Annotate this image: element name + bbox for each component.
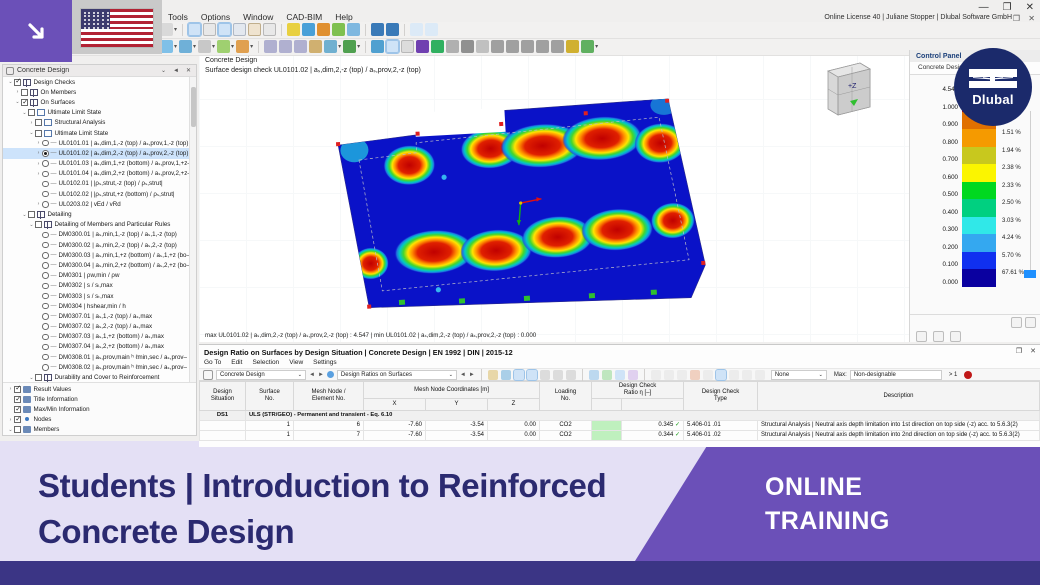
load-icon[interactable] <box>343 40 356 53</box>
tree-item[interactable]: Title Information <box>3 394 196 404</box>
table-max-value: Non-designable <box>854 372 938 378</box>
type-prev-icon[interactable]: ◄ <box>460 372 466 378</box>
support2-icon[interactable] <box>386 23 399 36</box>
viewport-minmax-footer: max UL0101.02 | aₛ,dim,2,-z (top) / aₛ,p… <box>205 332 536 339</box>
menu-item-options[interactable]: Options <box>201 12 230 26</box>
table-filter-combo[interactable]: None ⌄ <box>771 370 827 380</box>
tree-dash-icon: — <box>51 161 57 167</box>
angle-icon[interactable] <box>551 40 564 53</box>
tree-radio[interactable] <box>42 242 49 249</box>
tree-item[interactable]: ⌄Detailing of Members and Particular Rul… <box>3 220 196 230</box>
table-arrow-icon[interactable] <box>514 370 524 380</box>
legend-value: 0.500 <box>914 192 958 210</box>
tree-item[interactable]: —DM0300.01 | aₛ,min,1,-z (top) / aₛ,1,-z… <box>3 230 196 240</box>
legend-color-band <box>962 269 996 287</box>
menu-item-cad-bim[interactable]: CAD-BIM <box>286 12 322 26</box>
table-type-icon <box>327 371 334 378</box>
tree-expander-icon[interactable]: › <box>7 417 14 423</box>
tree-scrollbar-thumb[interactable] <box>191 87 196 127</box>
tree-item[interactable]: ›Result Values <box>3 384 196 394</box>
tree-radio[interactable] <box>42 283 49 290</box>
table-menu-view[interactable]: View <box>289 359 303 366</box>
measure-icon[interactable] <box>566 40 579 53</box>
tree-item[interactable]: Max/Min Information <box>3 404 196 414</box>
tree-item[interactable]: ⌄Durability and Cover to Reinforcement <box>3 372 196 382</box>
member-icon[interactable] <box>198 40 211 53</box>
table-menu-go-to[interactable]: Go To <box>204 359 221 366</box>
tree-item-label: Structural Analysis <box>55 119 106 126</box>
table-sort-icon[interactable] <box>703 370 713 380</box>
tree-checkbox[interactable] <box>14 386 21 393</box>
tree-checkbox[interactable] <box>28 211 35 218</box>
tree-checkbox[interactable] <box>14 416 21 423</box>
panel-tab-colors-icon[interactable] <box>916 331 927 342</box>
cell-z: 0.00 <box>488 421 540 431</box>
tree-checkbox[interactable] <box>35 119 42 126</box>
cell-check-type: 5.406-01 .02 <box>684 431 758 441</box>
th-mesh-node: Mesh Node /Element No. <box>294 382 364 411</box>
pin-icon[interactable]: ◄ <box>171 68 181 74</box>
tree-checkbox[interactable] <box>14 79 21 86</box>
tree-item[interactable]: —DM0301 | ρw,min / ρw <box>3 271 196 281</box>
table-type-combo[interactable]: Design Ratios on Surfaces ⌄ <box>337 370 457 380</box>
tree-item[interactable]: ›Structural Analysis <box>3 118 196 128</box>
tree-radio[interactable] <box>42 150 49 157</box>
viewport-title: Concrete Design Surface design check UL0… <box>205 56 421 76</box>
loadcase-prev-icon[interactable] <box>410 23 423 36</box>
legend-color-band <box>962 164 996 182</box>
flag-star <box>84 15 86 17</box>
source-next-icon[interactable]: ► <box>318 372 324 378</box>
close-icon[interactable]: ✕ <box>184 67 193 74</box>
render-colors-icon-caret[interactable]: ▾ <box>595 43 598 50</box>
flag-star <box>107 12 109 14</box>
tree-item-label: UL0203.02 | vEd / vRd <box>59 201 121 208</box>
mesh-result-icon[interactable] <box>401 40 414 53</box>
tree-expander-icon[interactable]: ⌄ <box>28 130 35 136</box>
table-source-combo[interactable]: Concrete Design ⌄ <box>216 370 306 380</box>
tree-item-label: UL0101.01 | aₛ,dim,1,-z (top) / aₛ,prov,… <box>59 140 189 147</box>
table-restore-icon[interactable]: ❐ <box>1016 347 1022 355</box>
tree-checkbox[interactable] <box>21 99 28 106</box>
tree-item[interactable]: ›—UL0101.04 | aₛ,dim,2,+z (bottom) / aₛ,… <box>3 169 196 179</box>
tree-dash-icon: — <box>51 313 57 319</box>
panel-tab-filter-icon[interactable] <box>950 331 961 342</box>
table-numbering-icon[interactable] <box>527 370 537 380</box>
tree-dash-icon: — <box>51 303 57 309</box>
tree-dash-icon: — <box>51 364 57 370</box>
node-icon-caret[interactable]: ▾ <box>174 43 177 50</box>
flag-star <box>93 15 95 17</box>
line-icon-caret[interactable]: ▾ <box>193 43 196 50</box>
release-icon-caret[interactable]: ▾ <box>338 43 341 50</box>
tree-radio[interactable] <box>42 181 49 188</box>
view-cube[interactable]: +Z <box>822 59 874 119</box>
tree-item[interactable]: —DM0307.01 | aₛ,1,-z (top) / aₛ,max <box>3 311 196 321</box>
flag-star <box>84 12 86 14</box>
tree-radio[interactable] <box>42 334 49 341</box>
tree-item-label: Title Information <box>34 396 78 403</box>
tree-item[interactable]: —UL0102.01 | |ρₛ,strut,-z (top) / ρₛ,str… <box>3 179 196 189</box>
table-menu-settings[interactable]: Settings <box>313 359 337 366</box>
line-tool-icon[interactable] <box>476 40 489 53</box>
cell-ratio-value: 0.345 ✓ <box>622 421 684 431</box>
table-magnify-icon[interactable] <box>677 370 687 380</box>
tree-item[interactable]: —DM0300.02 | aₛ,min,2,-z (top) / aₛ,2,-z… <box>3 240 196 250</box>
table-grid-icon[interactable] <box>540 370 550 380</box>
mesh-icon[interactable] <box>371 40 384 53</box>
table-chart-icon[interactable] <box>589 370 599 380</box>
legend-color-band <box>962 252 996 270</box>
navigator-tree[interactable]: ⌄Design Checks›On Members⌄On Surfaces⌄Ul… <box>3 77 196 382</box>
legend-value: 0.000 <box>914 280 958 298</box>
table-close-icon[interactable]: ✕ <box>1030 347 1036 355</box>
tree-dash-icon: — <box>51 293 57 299</box>
tree-checkbox[interactable] <box>14 396 21 403</box>
table-type-value: Design Ratios on Surfaces <box>341 372 447 378</box>
tree-expander-icon[interactable]: › <box>35 161 42 167</box>
tree-radio[interactable] <box>42 364 49 371</box>
cell-ratio-value: 0.344 ✓ <box>622 431 684 441</box>
cell-mesh-node: 7 <box>294 431 364 441</box>
tree-expander-icon[interactable]: ⌄ <box>21 110 28 116</box>
tree-item-label: DM0307.02 | aₛ,2,-z (top) / aₛ,max <box>59 323 153 330</box>
panel-tab-factors-icon[interactable] <box>933 331 944 342</box>
tree-dash-icon: — <box>51 273 57 279</box>
tree-expander-icon[interactable]: ⌄ <box>28 375 35 381</box>
banner-bottom-strip <box>0 561 1040 585</box>
support-surface-icon[interactable] <box>294 40 307 53</box>
result-icon[interactable] <box>431 40 444 53</box>
table-source-value: Concrete Design <box>220 372 296 378</box>
solid-icon-caret[interactable]: ▾ <box>250 43 253 50</box>
tree-item[interactable]: —DM0300.04 | aₛ,min,2,+z (bottom) / aₛ,2… <box>3 260 196 270</box>
hinge-icon[interactable] <box>309 40 322 53</box>
table-zoom-icon[interactable] <box>664 370 674 380</box>
support-node-icon[interactable] <box>264 40 277 53</box>
node-icon <box>23 416 31 423</box>
table-source-icon <box>203 370 213 380</box>
navigator-header: Concrete Design ⌄ ◄ ✕ <box>3 65 196 77</box>
source-prev-icon[interactable]: ◄ <box>309 372 315 378</box>
tree-radio[interactable] <box>42 272 49 279</box>
tree-item[interactable]: —DM0307.03 | aₛ,1,+z (bottom) / aₛ,max <box>3 332 196 342</box>
tree-expander-icon[interactable]: › <box>35 150 42 156</box>
type-next-icon[interactable]: ► <box>469 372 475 378</box>
tree-radio[interactable] <box>42 232 49 239</box>
surface-icon <box>30 99 38 106</box>
cell-surface-no: 1 <box>246 421 294 431</box>
undo-icon-caret[interactable]: ▾ <box>174 26 177 33</box>
tree-dash-icon: — <box>51 150 57 156</box>
tree-checkbox[interactable] <box>14 406 21 413</box>
flag-star <box>88 19 90 21</box>
table-row[interactable]: 17-7.60-3.540.00CO20.344 ✓5.406-01 .02St… <box>200 431 1040 441</box>
tree-dash-icon: — <box>51 354 57 360</box>
table-funnel-icon[interactable] <box>729 370 739 380</box>
tree-expander-icon[interactable]: ⌄ <box>7 79 14 85</box>
usa-flag-icon <box>80 8 154 48</box>
tree-item[interactable]: ›—UL0203.02 | vEd / vRd <box>3 199 196 209</box>
tree-scrollbar[interactable] <box>189 77 196 382</box>
surface-icon <box>44 374 52 381</box>
table-toolbar[interactable]: Concrete Design ⌄ ◄ ► Design Ratios on S… <box>199 368 1040 381</box>
tree-item[interactable]: ›On Members <box>3 87 196 97</box>
support-line-icon[interactable] <box>279 40 292 53</box>
tree-item-label: DM0308.02 | aₛ,prov,main ʰ ℓmin,sec / aₛ… <box>59 364 187 371</box>
mirror-icon[interactable] <box>521 40 534 53</box>
license-label: Online License 40 | Juliane Stopper | Dl… <box>824 14 1012 21</box>
window-controls[interactable]: — ❐ ✕ <box>979 2 1034 13</box>
flag-star <box>102 23 104 25</box>
tree-item-label: Ultimate Limit State <box>48 109 102 116</box>
table-row[interactable]: 16-7.60-3.540.00CO20.345 ✓5.406-01 .01St… <box>200 421 1040 431</box>
collapse-icon[interactable]: ⌄ <box>159 67 168 74</box>
tree-item[interactable]: —DM0300.03 | aₛ,min,1,+z (bottom) / aₛ,1… <box>3 250 196 260</box>
tree-item[interactable]: —UL0102.02 | |ρₛ,strut,+z (bottom) / ρₛ,… <box>3 189 196 199</box>
model-viewport[interactable]: Concrete Design Surface design check UL0… <box>199 52 909 342</box>
tree-dash-icon: — <box>51 171 57 177</box>
rotate-icon[interactable] <box>536 40 549 53</box>
tree-item-label: Nodes <box>34 416 52 423</box>
banner-title-line1: Students | Introduction to Reinforced <box>38 463 678 509</box>
align-icon[interactable] <box>491 40 504 53</box>
mesh-icon <box>44 119 52 126</box>
cell-surface-no: 1 <box>246 431 294 441</box>
flag-stripe <box>81 44 153 47</box>
tree-item-label: On Members <box>41 89 77 96</box>
cell-mesh-node: 6 <box>294 421 364 431</box>
table-link-icon[interactable] <box>501 370 511 380</box>
load-icon-caret[interactable]: ▾ <box>357 43 360 50</box>
minimize-button[interactable]: — <box>979 2 989 13</box>
tree-radio[interactable] <box>42 303 49 310</box>
cell-x: -7.60 <box>364 421 426 431</box>
tree-item[interactable]: —DM0307.04 | aₛ,2,+z (bottom) / aₛ,max <box>3 342 196 352</box>
distribute-icon[interactable] <box>506 40 519 53</box>
flag-star <box>93 23 95 25</box>
table-funnel3-icon[interactable] <box>755 370 765 380</box>
tree-item-label: Design Checks <box>34 79 76 86</box>
tree-dash-icon: — <box>51 262 57 268</box>
tree-item[interactable]: ›—UL0101.02 | aₛ,dim,2,-z (top) / aₛ,pro… <box>3 148 196 158</box>
toolbar-separator <box>404 24 405 36</box>
toolbar-separator <box>365 41 366 53</box>
render-colors-icon[interactable] <box>581 40 594 53</box>
th-ratio-value <box>622 399 684 411</box>
tree-checkbox[interactable] <box>35 374 42 381</box>
surface-contour-plot[interactable] <box>329 97 715 323</box>
tree-expander-icon[interactable]: › <box>35 140 42 146</box>
cell-y: -3.54 <box>426 431 488 441</box>
tree-item-label: UL0101.04 | aₛ,dim,2,+z (bottom) / aₛ,pr… <box>59 170 191 177</box>
flag-star <box>97 12 99 14</box>
menu-item-help[interactable]: Help <box>335 12 352 26</box>
table-select-icon[interactable] <box>651 370 661 380</box>
legend-scale-icon[interactable] <box>1025 317 1036 328</box>
table-legend-icon[interactable] <box>690 370 700 380</box>
table-max-combo[interactable]: Non-designable <box>850 370 942 380</box>
table-search-icon[interactable] <box>488 370 498 380</box>
tree-expander-icon[interactable]: ⌄ <box>21 212 28 218</box>
table-filter-icon[interactable] <box>615 370 625 380</box>
tree-dash-icon: — <box>51 242 57 248</box>
tree-item[interactable]: ⌄Detailing <box>3 209 196 219</box>
tree-item[interactable]: ›—UL0101.01 | aₛ,dim,1,-z (top) / aₛ,pro… <box>3 138 196 148</box>
tree-item[interactable]: ⌄Ultimate Limit State <box>3 128 196 138</box>
tree-radio[interactable] <box>42 323 49 330</box>
flag-star <box>88 27 90 29</box>
surface-icon <box>37 211 45 218</box>
th-mesh-coordinates: Mesh Node Coordinates [m] <box>364 382 540 399</box>
mesh-settings-icon[interactable] <box>386 40 399 53</box>
tree-radio[interactable] <box>42 262 49 269</box>
flag-star <box>107 19 109 21</box>
tree-radio[interactable] <box>42 313 49 320</box>
table-error-icon[interactable] <box>964 371 972 379</box>
tree-item[interactable]: —DM0304 | hshear,min / h <box>3 301 196 311</box>
surface-icon <box>23 79 31 86</box>
promo-banner: Students | Introduction to Reinforced Co… <box>0 441 1040 585</box>
banner-title: Students | Introduction to Reinforced Co… <box>38 463 678 555</box>
table-menu-edit[interactable]: Edit <box>231 359 242 366</box>
loadcase-next-icon[interactable] <box>425 23 438 36</box>
table-menu-bar[interactable]: Go ToEditSelectionViewSettings <box>199 359 1040 368</box>
tree-item-label: DM0300.01 | aₛ,min,1,-z (top) / aₛ,1,-z … <box>59 231 177 238</box>
tree-item[interactable]: ⌄Ultimate Limit State <box>3 108 196 118</box>
table-print-icon[interactable] <box>566 370 576 380</box>
th-design-check-type: Design CheckType <box>684 382 758 411</box>
flag-star <box>93 12 95 14</box>
table-group-row: DS1ULS (STR/GEO) - Permanent and transie… <box>200 411 1040 421</box>
tree-radio[interactable] <box>42 354 49 361</box>
tree-checkbox[interactable] <box>35 221 42 228</box>
tree-item-label: Max/Min Information <box>34 406 90 413</box>
release-icon[interactable] <box>324 40 337 53</box>
surface-icon-caret[interactable]: ▾ <box>231 43 234 50</box>
tree-expander-icon[interactable]: › <box>7 386 14 392</box>
table-max-label: Max: <box>834 372 847 378</box>
tree-expander-icon[interactable]: ⌄ <box>28 222 35 228</box>
tree-radio[interactable] <box>42 171 49 178</box>
tree-item[interactable]: ›Nodes <box>3 415 196 425</box>
print-icon[interactable] <box>446 40 459 53</box>
tree-radio[interactable] <box>42 140 49 147</box>
results-table[interactable]: DesignSituation SurfaceNo. Mesh Node /El… <box>199 381 1040 441</box>
tree-radio[interactable] <box>42 160 49 167</box>
tree-expander-icon[interactable]: › <box>35 201 42 207</box>
tree-dash-icon: — <box>51 191 57 197</box>
tree-expander-icon[interactable]: ⌄ <box>7 427 14 433</box>
cell-ratio-bar <box>592 431 622 441</box>
tree-checkbox[interactable] <box>21 89 28 96</box>
tree-radio[interactable] <box>42 344 49 351</box>
control-panel-footer <box>910 314 1040 342</box>
table-funnel2-icon[interactable] <box>742 370 752 380</box>
dimension-icon[interactable] <box>461 40 474 53</box>
tree-item[interactable]: —DM0308.01 | aₛ,prov,main ʰ ℓmin,sec / a… <box>3 352 196 362</box>
tree-item[interactable]: ⌄Design Checks <box>3 77 196 87</box>
legend-value: 0.600 <box>914 175 958 193</box>
navigator-footer-tree[interactable]: ›Result ValuesTitle InformationMax/Min I… <box>3 382 196 435</box>
menu-item-tools[interactable]: Tools <box>168 12 188 26</box>
tree-radio[interactable] <box>42 293 49 300</box>
cell-y: -3.54 <box>426 421 488 431</box>
tree-item-label: DM0302 | s / sₗ,max <box>59 282 113 289</box>
tree-item-label: Members <box>34 426 60 433</box>
support-icon[interactable] <box>371 23 384 36</box>
table-count: > 1 <box>949 372 958 378</box>
sub-window-controls[interactable]: ❐ ✕ <box>1013 14 1038 23</box>
maximize-button[interactable]: ❐ <box>1003 2 1012 13</box>
th-z: Z <box>488 399 540 411</box>
flag-star <box>97 19 99 21</box>
cell-z: 0.00 <box>488 431 540 441</box>
tree-item[interactable]: —DM0308.02 | aₛ,prov,main ʰ ℓmin,sec / a… <box>3 362 196 372</box>
legend-color-band <box>962 217 996 235</box>
table-filter-active-icon[interactable] <box>716 370 726 380</box>
flag-star <box>88 12 90 14</box>
tree-radio[interactable] <box>42 201 49 208</box>
tree-checkbox[interactable] <box>14 426 21 433</box>
dlubal-logo-mark <box>967 68 1019 90</box>
flag-star <box>93 27 95 29</box>
tree-radio[interactable] <box>42 191 49 198</box>
tree-item[interactable]: ⌄Members <box>3 425 196 435</box>
tree-item-label: DM0307.03 | aₛ,1,+z (bottom) / aₛ,max <box>59 333 164 340</box>
table-color-icon[interactable] <box>628 370 638 380</box>
flag-star <box>97 15 99 17</box>
close-button[interactable]: ✕ <box>1026 2 1034 13</box>
member-icon-caret[interactable]: ▾ <box>212 43 215 50</box>
legend-value: 4.547 <box>914 87 958 105</box>
legend-selected-swatch[interactable] <box>1024 270 1036 278</box>
table-window-controls[interactable]: ❐ ✕ <box>1016 347 1036 355</box>
table-menu-selection[interactable]: Selection <box>252 359 279 366</box>
flag-star <box>107 15 109 17</box>
legend-settings-icon[interactable] <box>1011 317 1022 328</box>
tree-item-label: On Surfaces <box>41 99 75 106</box>
tree-radio[interactable] <box>42 252 49 259</box>
tree-item[interactable]: ›—UL0101.03 | aₛ,dim,1,+z (bottom) / aₛ,… <box>3 159 196 169</box>
tree-expander-icon[interactable]: › <box>28 120 35 126</box>
tree-item[interactable]: —DM0303 | s / sₜ,max <box>3 291 196 301</box>
table-export-icon[interactable] <box>553 370 563 380</box>
banner-title-line2: Concrete Design <box>38 509 678 555</box>
tree-item[interactable]: —DM0302 | s / sₗ,max <box>3 281 196 291</box>
calculate-icon[interactable] <box>416 40 429 53</box>
tree-expander-icon[interactable]: › <box>14 89 21 95</box>
table-green-icon[interactable] <box>602 370 612 380</box>
tree-item[interactable]: —DM0307.02 | aₛ,2,-z (top) / aₛ,max <box>3 322 196 332</box>
tree-expander-icon[interactable]: › <box>35 171 42 177</box>
surface-icon[interactable] <box>217 40 230 53</box>
flag-star <box>88 15 90 17</box>
tree-item-label: DM0308.01 | aₛ,prov,main ʰ ℓmin,sec / aₛ… <box>59 354 187 361</box>
tree-checkbox[interactable] <box>35 130 42 137</box>
line-icon[interactable] <box>179 40 192 53</box>
table-filter-value: None <box>775 372 817 378</box>
screenshot-root: ▾ ▾▾▾▾▾▾▾▾ ToolsOptionsWindowCAD-BIMHelp… <box>0 0 1040 585</box>
flag-star <box>102 12 104 14</box>
tree-checkbox[interactable] <box>28 109 35 116</box>
solid-icon[interactable] <box>236 40 249 53</box>
cell-situation <box>200 431 246 441</box>
tree-item[interactable]: ⌄On Surfaces <box>3 97 196 107</box>
tree-expander-icon[interactable]: ⌄ <box>14 99 21 105</box>
menu-item-window[interactable]: Window <box>243 12 273 26</box>
tree-dash-icon: — <box>51 252 57 258</box>
